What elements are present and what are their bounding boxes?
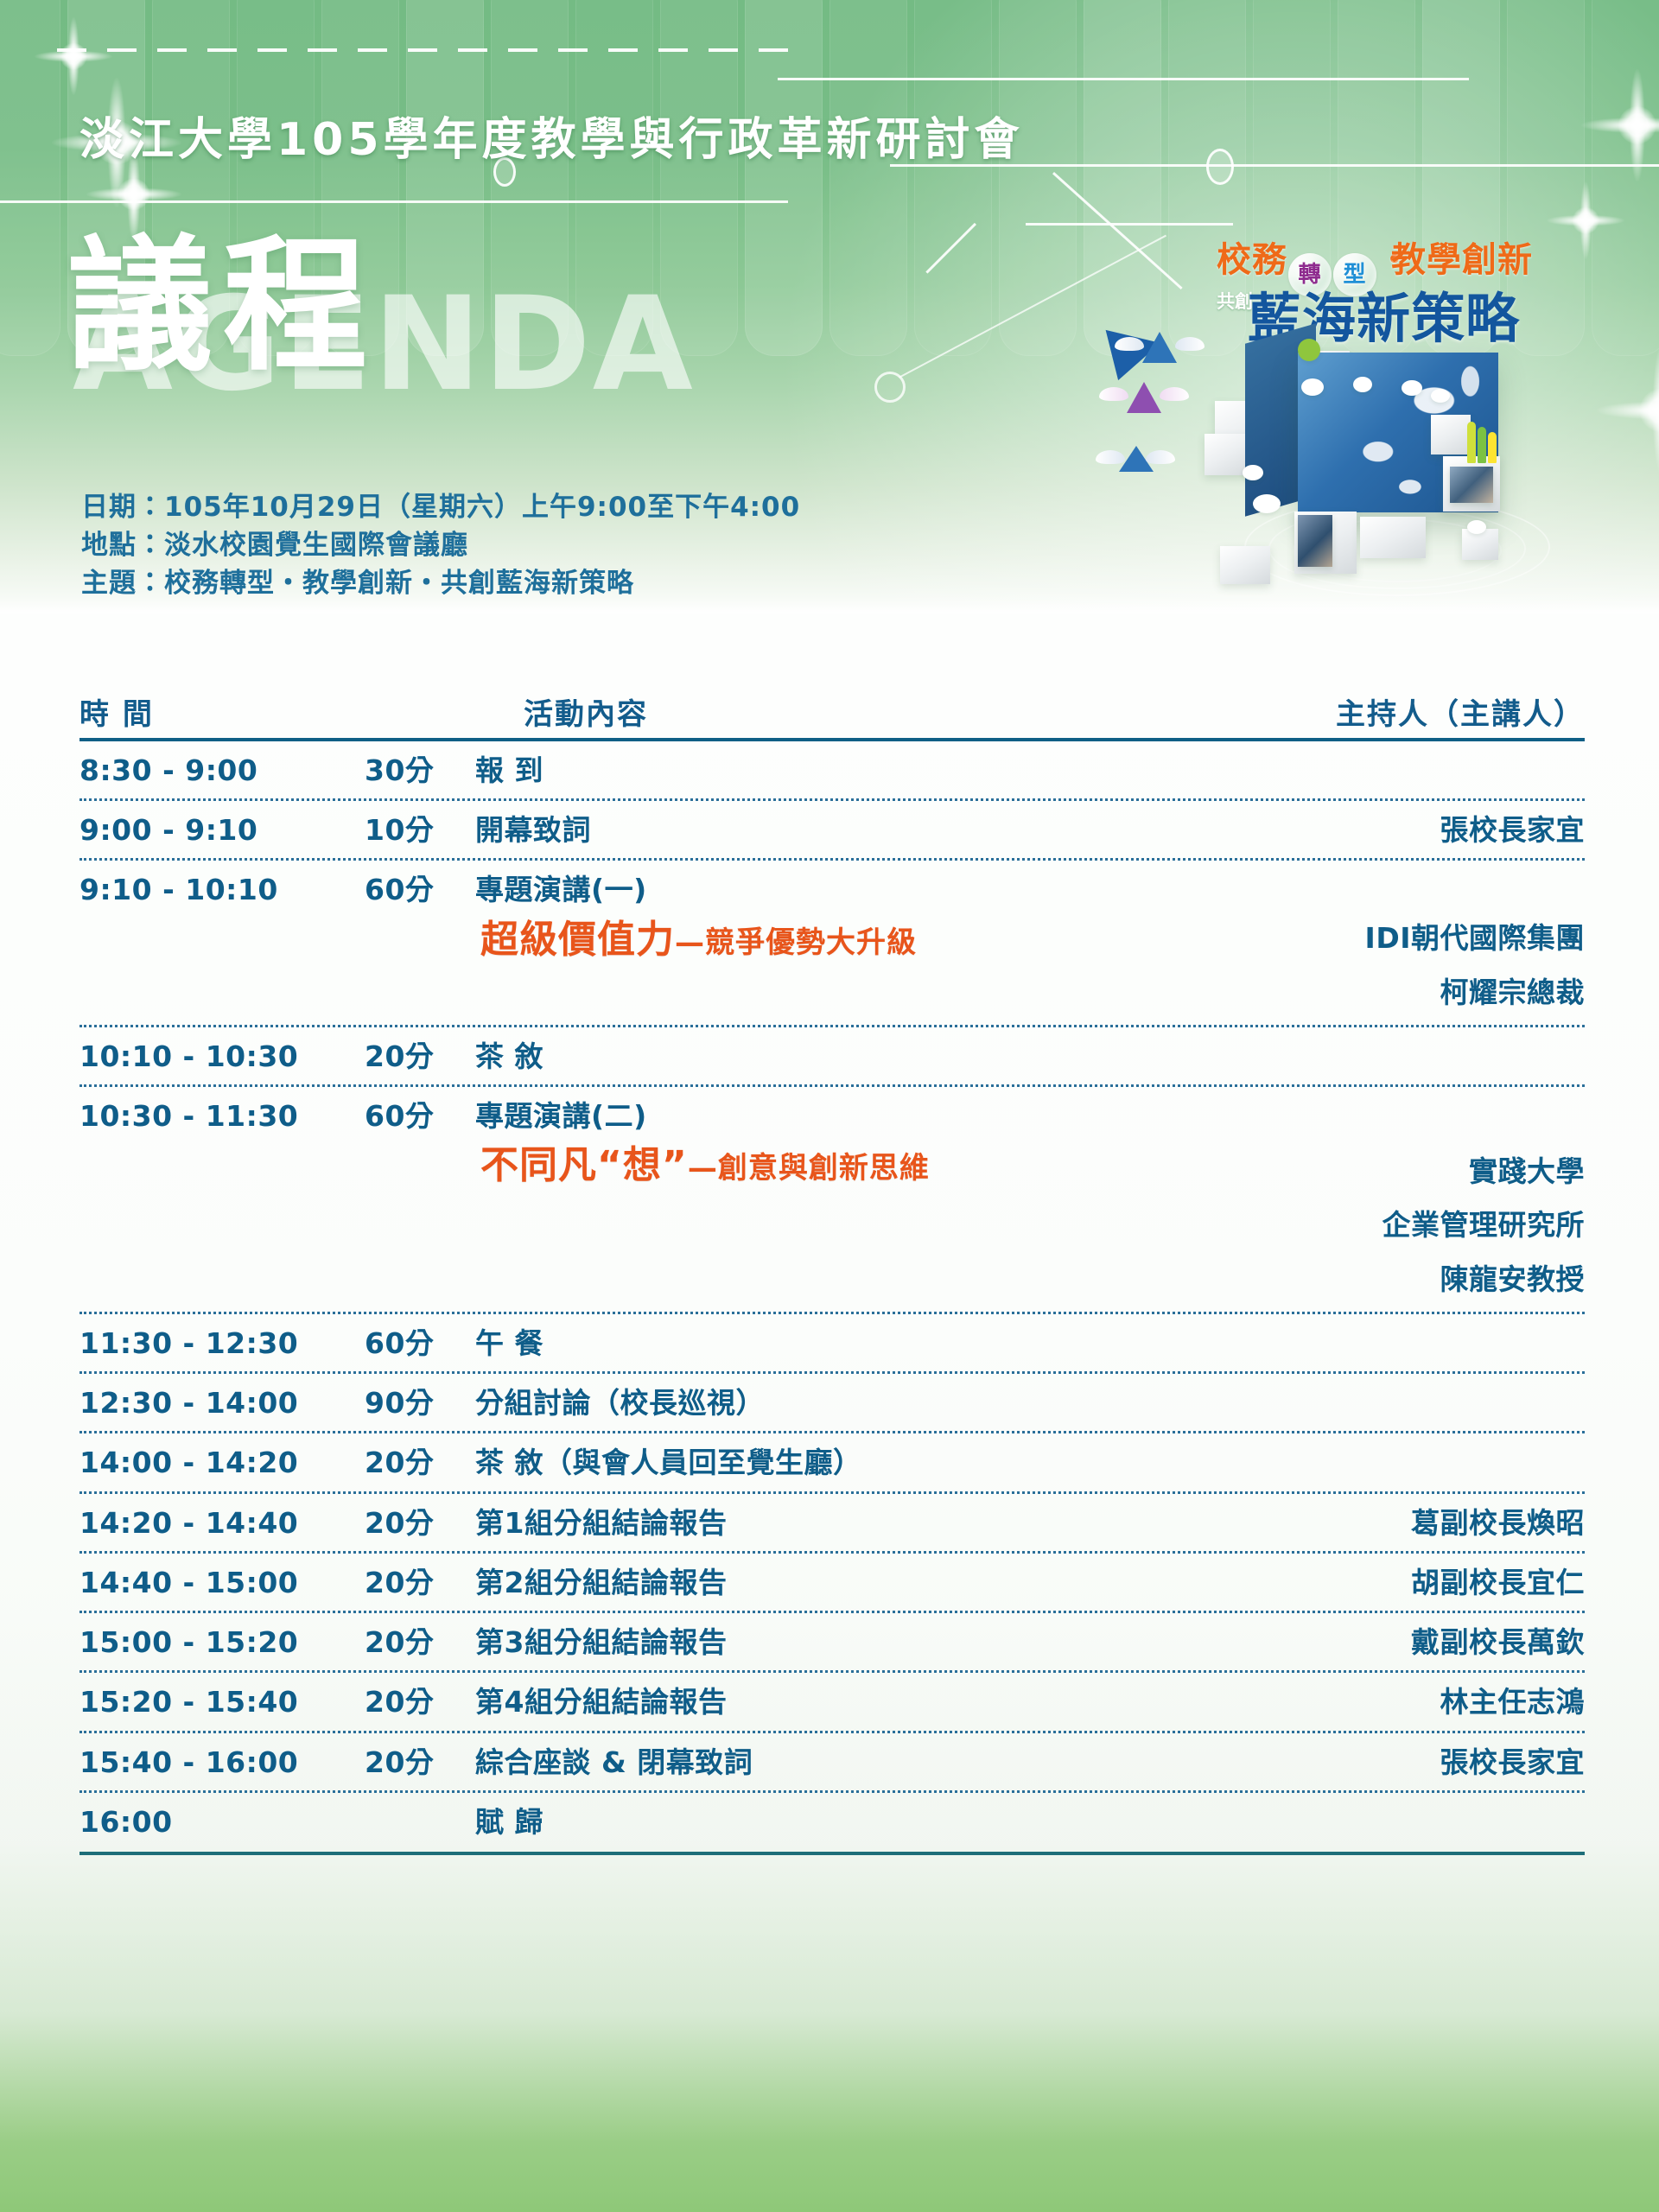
leaf-icon xyxy=(1467,422,1476,463)
event-info: 日期：105年10月29日（星期六）上午9:00至下午4:00 地點：淡水校園覺… xyxy=(81,488,800,602)
keynote-title-sub: —創意與創新思維 xyxy=(688,1151,930,1185)
cloud-icon xyxy=(1253,494,1281,513)
cube-block xyxy=(1360,517,1426,558)
cube-block xyxy=(1220,546,1270,584)
table-row: 15:00 - 15:20 20分 第3組分組結論報告 戴副校長萬欽 xyxy=(79,1613,1585,1673)
agenda-heading-zh: 議程 xyxy=(67,233,378,378)
table-row: 14:40 - 15:00 20分 第2組分組結論報告 胡副校長宜仁 xyxy=(79,1554,1585,1613)
cell-activity: 茶 敘 xyxy=(475,1039,1232,1075)
host-org: 實踐大學 xyxy=(1232,1154,1585,1190)
table-row: 10:30 - 11:30 60分 專題演講(二) 不同凡“想”—創意與創新思維… xyxy=(79,1087,1585,1314)
table-row: 14:00 - 14:20 20分 茶 敘（與會人員回至覺生廳） xyxy=(79,1433,1585,1493)
cell-time: 15:00 - 15:20 xyxy=(79,1624,365,1661)
keynote-title-main: 超級價值力 xyxy=(480,918,675,962)
host-name: 胡副校長宜仁 xyxy=(1232,1565,1585,1601)
event-theme: 主題：校務轉型・教學創新・共創藍海新策略 xyxy=(81,564,800,602)
leaf-icon xyxy=(1488,432,1497,463)
cloud-icon xyxy=(1298,339,1320,361)
cell-host: 戴副校長萬欽 xyxy=(1232,1624,1585,1661)
table-row: 12:30 - 14:00 90分 分組討論（校長巡視） xyxy=(79,1374,1585,1433)
agenda-poster: 淡江大學105學年度教學與行政革新研討會 AGENDA 議程 日期：105年10… xyxy=(0,0,1659,2212)
cell-time: 8:30 - 9:00 xyxy=(79,753,365,789)
agenda-heading-group: AGENDA 議程 xyxy=(67,233,378,378)
cell-activity: 綜合座談 & 閉幕致詞 xyxy=(475,1745,1232,1781)
cell-time: 9:00 - 9:10 xyxy=(79,812,365,849)
event-date: 日期：105年10月29日（星期六）上午9:00至下午4:00 xyxy=(81,488,800,526)
cell-activity: 午 餐 xyxy=(475,1325,1232,1362)
cell-duration: 10分 xyxy=(365,812,475,849)
table-bottom-rule xyxy=(79,1852,1585,1855)
cell-duration: 20分 xyxy=(365,1039,475,1075)
cloud-icon xyxy=(1402,380,1422,396)
host-name: 張校長家宜 xyxy=(1232,812,1585,849)
cloud-icon xyxy=(1431,389,1450,403)
cell-duration: 60分 xyxy=(365,872,475,908)
page-title: 淡江大學105學年度教學與行政革新研討會 xyxy=(79,103,1024,168)
table-row: 8:30 - 9:00 30分 報 到 xyxy=(79,741,1585,801)
cell-time: 14:40 - 15:00 xyxy=(79,1565,365,1601)
table-row: 15:40 - 16:00 20分 綜合座談 & 閉幕致詞 張校長家宜 xyxy=(79,1733,1585,1793)
keynote-title-sub: —競爭優勢大升級 xyxy=(675,925,917,960)
cell-activity: 第1組分組結論報告 xyxy=(475,1505,1232,1541)
cloud-icon xyxy=(1467,520,1486,534)
keynote-title: 超級價值力—競爭優勢大升級 xyxy=(480,918,1232,963)
cell-host: 胡副校長宜仁 xyxy=(1232,1565,1585,1601)
header-banner: 淡江大學105學年度教學與行政革新研討會 AGENDA 議程 日期：105年10… xyxy=(0,0,1659,613)
table-row: 9:00 - 9:10 10分 開幕致詞 張校長家宜 xyxy=(79,801,1585,861)
host-name: 柯耀宗總裁 xyxy=(1232,975,1585,1011)
cell-host: 張校長家宜 xyxy=(1232,1745,1585,1781)
host-name: 陳龍安教授 xyxy=(1232,1262,1585,1298)
cell-duration: 90分 xyxy=(365,1385,475,1421)
leaf-icon xyxy=(1478,427,1486,463)
cloud-icon xyxy=(1353,377,1372,392)
cell-time: 15:40 - 16:00 xyxy=(79,1745,365,1781)
cell-time: 14:00 - 14:20 xyxy=(79,1445,365,1481)
cell-time: 12:30 - 14:00 xyxy=(79,1385,365,1421)
table-row: 16:00 賦 歸 xyxy=(79,1793,1585,1850)
host-org: IDI朝代國際集團 xyxy=(1232,920,1585,957)
cell-activity: 茶 敘（與會人員回至覺生廳） xyxy=(475,1445,1232,1481)
column-header-host: 主持人（主講人） xyxy=(1336,697,1585,732)
cell-activity: 第2組分組結論報告 xyxy=(475,1565,1232,1601)
table-row: 10:10 - 10:30 20分 茶 敘 xyxy=(79,1027,1585,1087)
cell-activity: 第4組分組結論報告 xyxy=(475,1684,1232,1720)
agenda-table: 時 間 活動內容 主持人（主講人） 8:30 - 9:00 30分 報 到 9:… xyxy=(79,676,1585,1855)
cell-activity: 賦 歸 xyxy=(475,1804,1232,1840)
cell-duration: 20分 xyxy=(365,1445,475,1481)
cell-duration: 20分 xyxy=(365,1624,475,1661)
logo-text-gongchuang: 共創 xyxy=(1217,287,1248,312)
cell-time: 11:30 - 12:30 xyxy=(79,1325,365,1362)
cube-block xyxy=(1431,415,1471,454)
cell-host: 林主任志鴻 xyxy=(1232,1684,1585,1720)
keynote-label: 專題演講(一) xyxy=(475,873,647,906)
table-header-row: 時 間 活動內容 主持人（主講人） xyxy=(79,676,1585,733)
banner-line-short xyxy=(1026,223,1233,226)
table-row: 11:30 - 12:30 60分 午 餐 xyxy=(79,1314,1585,1374)
cell-activity: 專題演講(二) 不同凡“想”—創意與創新思維 xyxy=(475,1098,1232,1189)
cell-host: IDI朝代國際集團 柯耀宗總裁 xyxy=(1232,872,1585,1010)
event-place: 地點：淡水校園覺生國際會議廳 xyxy=(81,526,800,564)
cell-duration: 20分 xyxy=(365,1505,475,1541)
logo-text-jiaoxue: 教學創新 xyxy=(1391,240,1533,280)
host-dept: 企業管理研究所 xyxy=(1232,1207,1585,1243)
cell-time: 10:30 - 11:30 xyxy=(79,1098,365,1135)
host-name: 葛副校長煥昭 xyxy=(1232,1505,1585,1541)
host-name: 林主任志鴻 xyxy=(1232,1684,1585,1720)
host-name: 張校長家宜 xyxy=(1232,1745,1585,1781)
cell-activity: 開幕致詞 xyxy=(475,812,1232,849)
keynote-label: 專題演講(二) xyxy=(475,1099,647,1133)
globe-cube-illustration xyxy=(1115,328,1659,613)
cell-duration: 20分 xyxy=(365,1684,475,1720)
banner-line-upper xyxy=(778,78,1469,80)
banner-line-mid xyxy=(0,200,788,203)
logo-text-xiaowu: 校務 xyxy=(1217,240,1287,280)
table-row: 15:20 - 15:40 20分 第4組分組結論報告 林主任志鴻 xyxy=(79,1673,1585,1732)
keynote-title: 不同凡“想”—創意與創新思維 xyxy=(480,1143,1232,1189)
cell-time: 14:20 - 14:40 xyxy=(79,1505,365,1541)
photo-tile xyxy=(1450,467,1493,503)
logo-line-1: 校務轉型・教學創新 xyxy=(1217,235,1562,285)
banner-dashed-line xyxy=(57,48,791,52)
cell-host: 實踐大學 企業管理研究所 陳龍安教授 xyxy=(1232,1098,1585,1298)
cell-time: 15:20 - 15:40 xyxy=(79,1684,365,1720)
cell-duration: 60分 xyxy=(365,1325,475,1362)
host-name: 戴副校長萬欽 xyxy=(1232,1624,1585,1661)
cloud-icon xyxy=(1243,465,1263,480)
cell-duration: 20分 xyxy=(365,1745,475,1781)
column-header-time: 時 間 xyxy=(79,697,154,732)
cell-time: 16:00 xyxy=(79,1804,365,1840)
cell-host: 張校長家宜 xyxy=(1232,812,1585,849)
cell-duration: 60分 xyxy=(365,1098,475,1135)
cell-activity: 報 到 xyxy=(475,753,1232,789)
logo-separator: ・ xyxy=(1377,235,1391,285)
banner-ring-large xyxy=(1206,149,1234,185)
cell-duration: 30分 xyxy=(365,753,475,789)
table-row: 14:20 - 14:40 20分 第1組分組結論報告 葛副校長煥昭 xyxy=(79,1494,1585,1554)
cell-time: 9:10 - 10:10 xyxy=(79,872,365,908)
cell-duration: 20分 xyxy=(365,1565,475,1601)
cloud-icon xyxy=(1301,378,1324,396)
cell-activity: 分組討論（校長巡視） xyxy=(475,1385,1232,1421)
keynote-title-main: 不同凡“想” xyxy=(480,1143,688,1187)
column-header-activity: 活動內容 xyxy=(524,697,648,732)
cell-activity: 專題演講(一) 超級價值力—競爭優勢大升級 xyxy=(475,872,1232,963)
photo-tile xyxy=(1298,515,1332,567)
cell-host: 葛副校長煥昭 xyxy=(1232,1505,1585,1541)
table-row: 9:10 - 10:10 60分 專題演講(一) 超級價值力—競爭優勢大升級 I… xyxy=(79,861,1585,1027)
cell-activity: 第3組分組結論報告 xyxy=(475,1624,1232,1661)
cell-time: 10:10 - 10:30 xyxy=(79,1039,365,1075)
